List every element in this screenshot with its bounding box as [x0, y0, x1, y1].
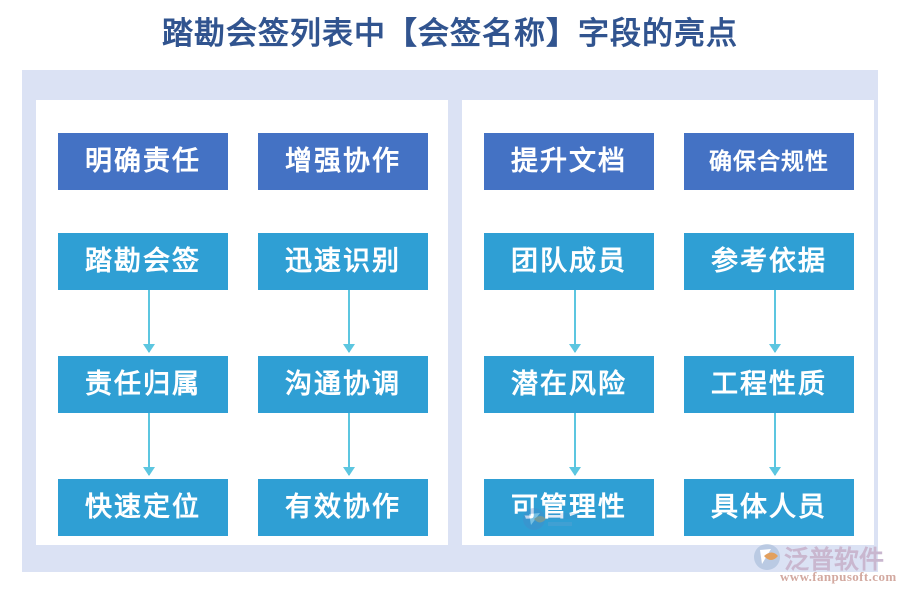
- node-box[interactable]: 有效协作: [258, 479, 428, 536]
- node-box[interactable]: 踏勘会签: [58, 233, 228, 290]
- node-box[interactable]: 沟通协调: [258, 356, 428, 413]
- arrow-down-icon: [142, 413, 156, 475]
- brand-logo: 泛普软件 www.fanpusoft.com: [752, 540, 892, 588]
- arrow-down-icon: [568, 413, 582, 475]
- header-box[interactable]: 确保合规性: [684, 133, 854, 190]
- column-left-a: 明确责任 踏勘会签 责任归属 快速定位: [58, 133, 228, 523]
- node-box[interactable]: 责任归属: [58, 356, 228, 413]
- arrow-stem: [148, 290, 150, 352]
- fanpu-logo-icon: [752, 542, 782, 572]
- node-box[interactable]: 参考依据: [684, 233, 854, 290]
- panel-right: 提升文档 团队成员 潜在风险 可管理性 确保合规性: [462, 100, 874, 545]
- arrow-down-icon: [568, 290, 582, 352]
- node-box[interactable]: 可管理性: [484, 479, 654, 536]
- header-box[interactable]: 增强协作: [258, 133, 428, 190]
- diagram-frame: 明确责任 踏勘会签 责任归属 快速定位 增强协作: [22, 70, 878, 572]
- arrow-stem: [574, 290, 576, 352]
- arrow-head: [569, 467, 581, 476]
- node-box[interactable]: 迅速识别: [258, 233, 428, 290]
- node-box[interactable]: 具体人员: [684, 479, 854, 536]
- page-title: 踏勘会签列表中【会签名称】字段的亮点: [0, 14, 900, 54]
- arrow-stem: [348, 413, 350, 475]
- arrow-head: [769, 344, 781, 353]
- column-left-b: 增强协作 迅速识别 沟通协调 有效协作: [258, 133, 428, 523]
- panel-left: 明确责任 踏勘会签 责任归属 快速定位 增强协作: [36, 100, 448, 545]
- arrow-stem: [348, 290, 350, 352]
- arrow-down-icon: [342, 413, 356, 475]
- node-box[interactable]: 团队成员: [484, 233, 654, 290]
- header-box[interactable]: 提升文档: [484, 133, 654, 190]
- node-box[interactable]: 快速定位: [58, 479, 228, 536]
- arrow-head: [143, 467, 155, 476]
- header-box[interactable]: 明确责任: [58, 133, 228, 190]
- node-box[interactable]: 潜在风险: [484, 356, 654, 413]
- arrow-stem: [774, 290, 776, 352]
- arrow-stem: [774, 413, 776, 475]
- column-right-b: 确保合规性 参考依据 工程性质 具体人员: [684, 133, 854, 523]
- arrow-down-icon: [768, 413, 782, 475]
- arrow-head: [769, 467, 781, 476]
- arrow-down-icon: [342, 290, 356, 352]
- arrow-head: [143, 344, 155, 353]
- arrow-head: [343, 344, 355, 353]
- arrow-stem: [574, 413, 576, 475]
- arrow-head: [343, 467, 355, 476]
- node-box[interactable]: 工程性质: [684, 356, 854, 413]
- arrow-down-icon: [142, 290, 156, 352]
- brand-url: www.fanpusoft.com: [780, 569, 897, 585]
- column-right-a: 提升文档 团队成员 潜在风险 可管理性: [484, 133, 654, 523]
- arrow-stem: [148, 413, 150, 475]
- arrow-head: [569, 344, 581, 353]
- arrow-down-icon: [768, 290, 782, 352]
